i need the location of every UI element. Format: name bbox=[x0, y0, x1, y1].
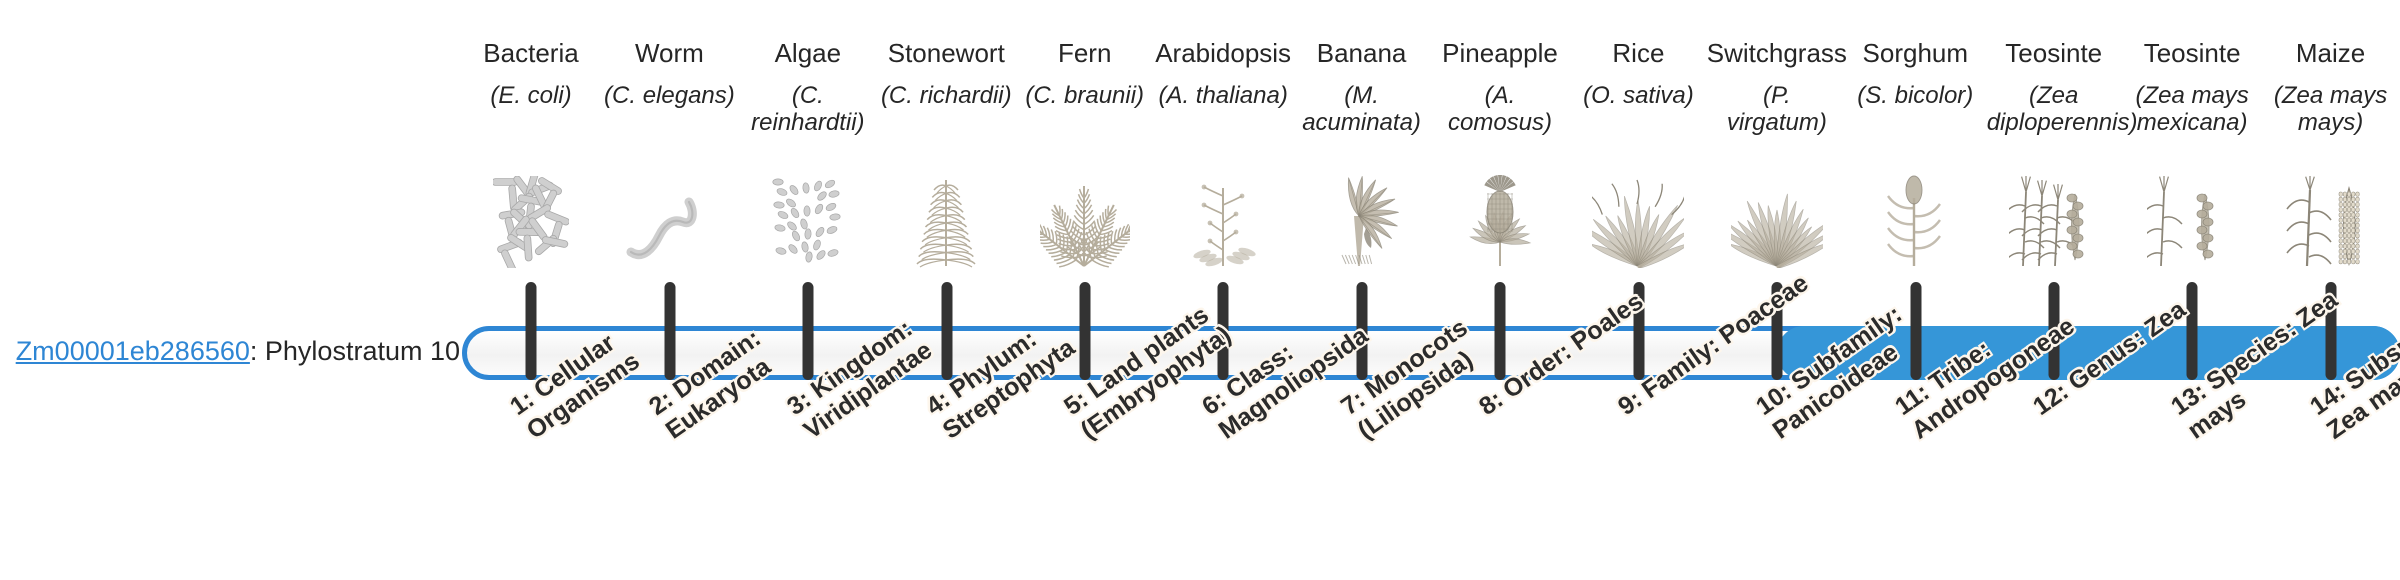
banana-icon: ; ; ; ; ; ; ; ; ; bbox=[1293, 168, 1431, 268]
tick-level-14[interactable] bbox=[2325, 282, 2336, 380]
species-column-teosinte-12: Teosinte(Zea diploperennis) bbox=[1985, 0, 2123, 310]
tick-level-4[interactable] bbox=[941, 282, 952, 380]
switchgrass-icon bbox=[1708, 168, 1846, 268]
species-scientific-name: (C. reinhardtii) bbox=[741, 82, 875, 136]
fern-icon bbox=[1016, 168, 1154, 268]
species-column-rice-9: Rice(O. sativa) bbox=[1569, 0, 1707, 310]
species-column-arabidopsis-6: Arabidopsis(A. thaliana) bbox=[1154, 0, 1292, 310]
species-scientific-name: (S. bicolor) bbox=[1848, 82, 1982, 109]
phylostratum-value-label: Phylostratum 10 bbox=[265, 336, 460, 366]
tick-level-13[interactable] bbox=[2187, 282, 2198, 380]
species-scientific-name: (A. comosus) bbox=[1433, 82, 1567, 136]
species-column-worm-2: Worm(C. elegans) bbox=[600, 0, 738, 310]
species-common-name: Fern bbox=[1058, 38, 1111, 68]
tick-level-5[interactable] bbox=[1079, 282, 1090, 380]
maize-icon bbox=[2262, 168, 2400, 268]
arabidopsis-icon bbox=[1154, 168, 1292, 268]
species-scientific-name: (Zea diploperennis) bbox=[1987, 82, 2121, 136]
tick-level-11[interactable] bbox=[1910, 282, 1921, 380]
species-common-name: Bacteria bbox=[483, 38, 578, 68]
species-column-fern-5: Fern(C. braunii) bbox=[1016, 0, 1154, 310]
phylostratum-fill bbox=[1777, 326, 2400, 380]
species-common-name: Banana bbox=[1317, 38, 1407, 68]
species-columns: Bacteria(E. coli)Worm(C. elegans) Algae(… bbox=[462, 0, 2400, 580]
rice-icon bbox=[1569, 168, 1707, 268]
species-column-pineapple-8: Pineapple(A. comosus) bbox=[1431, 0, 1569, 310]
tick-level-7[interactable] bbox=[1356, 282, 1367, 380]
gene-label-separator: : bbox=[250, 336, 265, 366]
species-column-banana-7: Banana(M. acuminata) bbox=[1293, 0, 1431, 310]
species-scientific-name: (C. elegans) bbox=[602, 82, 736, 109]
species-scientific-name: (A. thaliana) bbox=[1156, 82, 1290, 109]
gene-phylostratum-label: Zm00001eb286560: Phylostratum 10 bbox=[0, 336, 460, 367]
bacteria-icon bbox=[462, 168, 600, 268]
tick-level-1[interactable] bbox=[526, 282, 537, 380]
species-column-sorghum-11: Sorghum(S. bicolor) bbox=[1846, 0, 1984, 310]
species-scientific-name: (Zea mays mexicana) bbox=[2125, 82, 2259, 136]
species-column-teosinte-13: Teosinte(Zea mays mexicana) bbox=[2123, 0, 2261, 310]
species-scientific-name: (Zea mays mays) bbox=[2264, 82, 2398, 136]
teosinte-mex-icon bbox=[2123, 168, 2261, 268]
tick-level-12[interactable] bbox=[2048, 282, 2059, 380]
species-common-name: Sorghum bbox=[1863, 38, 1969, 68]
tick-level-8[interactable] bbox=[1495, 282, 1506, 380]
species-column-switchgrass-10: Switchgrass(P. virgatum) bbox=[1708, 0, 1846, 310]
species-scientific-name: (M. acuminata) bbox=[1295, 82, 1429, 136]
tick-level-10[interactable] bbox=[1772, 282, 1783, 380]
phylostratum-diagram: Zm00001eb286560: Phylostratum 10 Bacteri… bbox=[0, 0, 2400, 580]
stonewort-icon bbox=[877, 168, 1015, 268]
species-common-name: Pineapple bbox=[1442, 38, 1558, 68]
species-common-name: Maize bbox=[2296, 38, 2365, 68]
species-column-bacteria-1: Bacteria(E. coli) bbox=[462, 0, 600, 310]
pineapple-icon bbox=[1431, 168, 1569, 268]
species-scientific-name: (P. virgatum) bbox=[1710, 82, 1844, 136]
species-common-name: Switchgrass bbox=[1707, 38, 1847, 68]
species-column-stonewort-4: Stonewort(C. richardii) bbox=[877, 0, 1015, 310]
species-common-name: Teosinte bbox=[2005, 38, 2102, 68]
gene-id-link[interactable]: Zm00001eb286560 bbox=[16, 336, 250, 366]
tick-level-9[interactable] bbox=[1633, 282, 1644, 380]
tick-level-6[interactable] bbox=[1218, 282, 1229, 380]
species-common-name: Rice bbox=[1612, 38, 1664, 68]
sorghum-icon bbox=[1846, 168, 1984, 268]
species-common-name: Teosinte bbox=[2144, 38, 2241, 68]
species-common-name: Stonewort bbox=[888, 38, 1005, 68]
species-common-name: Worm bbox=[635, 38, 704, 68]
worm-icon bbox=[600, 168, 738, 268]
tick-level-2[interactable] bbox=[664, 282, 675, 380]
species-column-algae-3: Algae(C. reinhardtii) bbox=[739, 0, 877, 310]
species-scientific-name: (C. richardii) bbox=[879, 82, 1013, 109]
phylostratum-bar[interactable] bbox=[462, 326, 2400, 380]
species-scientific-name: (E. coli) bbox=[464, 82, 598, 109]
teosinte-diplo-icon bbox=[1985, 168, 2123, 268]
algae-icon bbox=[739, 168, 877, 268]
species-scientific-name: (O. sativa) bbox=[1571, 82, 1705, 109]
tick-level-3[interactable] bbox=[803, 282, 814, 380]
species-column-maize-14: Maize(Zea mays mays) bbox=[2262, 0, 2400, 310]
species-common-name: Algae bbox=[775, 38, 842, 68]
species-common-name: Arabidopsis bbox=[1155, 38, 1291, 68]
species-scientific-name: (C. braunii) bbox=[1018, 82, 1152, 109]
